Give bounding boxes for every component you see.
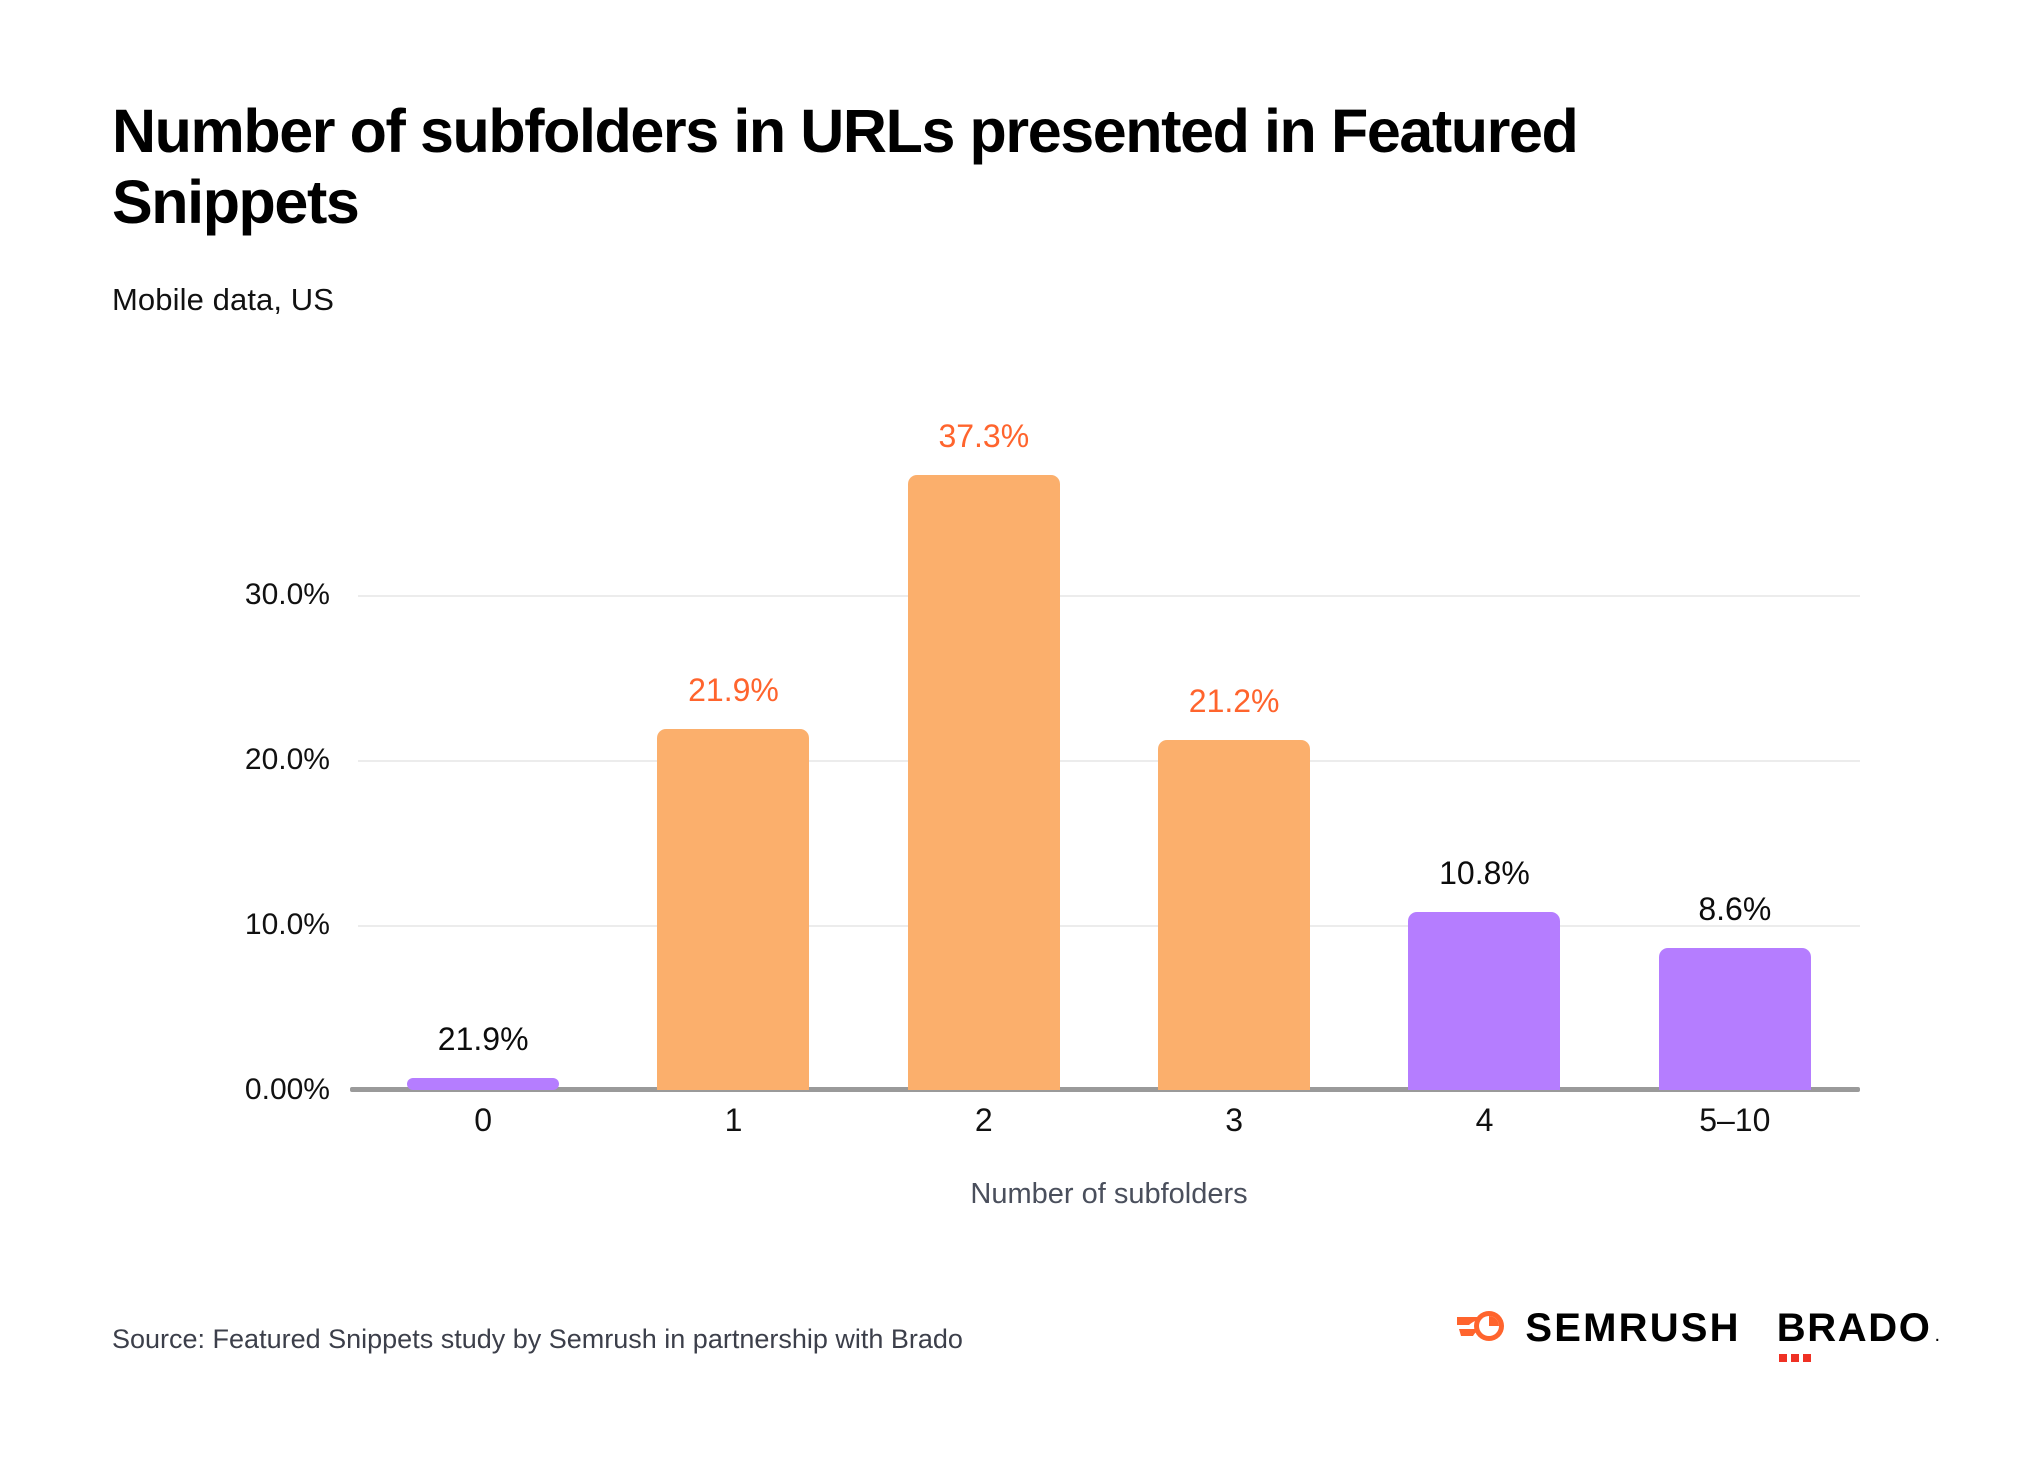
page-title: Number of subfolders in URLs presented i… (112, 96, 1732, 238)
brado-wordmark: BRADO (1777, 1306, 1932, 1351)
bar-value-label-3: 21.2% (1189, 683, 1280, 720)
y-tick-0: 0.00% (245, 1073, 330, 1107)
logo-group: SEMRUSH BRADO . (1455, 1304, 1940, 1353)
bar-group: 21.9% 21.9% 37.3% 21.2% 10.8% 8.6% (358, 430, 1860, 1090)
bar-value-label-4: 10.8% (1439, 855, 1530, 892)
x-axis-title: Number of subfolders (358, 1178, 1860, 1211)
bar-slot-4[interactable]: 10.8% (1359, 430, 1609, 1090)
bar-1[interactable] (657, 729, 809, 1090)
x-tick-1: 1 (608, 1102, 858, 1139)
x-axis-labels: 0 1 2 3 4 5–10 (358, 1102, 1860, 1139)
bar-slot-3[interactable]: 21.2% (1109, 430, 1359, 1090)
x-tick-2: 2 (859, 1102, 1109, 1139)
brado-trademark-dot: . (1934, 1324, 1940, 1351)
bar-2[interactable] (908, 475, 1060, 1090)
semrush-logo: SEMRUSH (1455, 1304, 1740, 1353)
bar-slot-0[interactable]: 21.9% (358, 430, 608, 1090)
plot-area: 21.9% 21.9% 37.3% 21.2% 10.8% 8.6% (358, 430, 1860, 1090)
bar-0[interactable] (407, 1078, 559, 1090)
y-axis-labels: 30.0% 20.0% 10.0% 0.00% (150, 430, 330, 1090)
semrush-wordmark: SEMRUSH (1525, 1306, 1740, 1351)
x-tick-4: 4 (1359, 1102, 1609, 1139)
x-tick-5: 5–10 (1610, 1102, 1860, 1139)
semrush-comet-icon (1455, 1304, 1509, 1353)
bar-value-label-0: 21.9% (438, 1021, 529, 1058)
footer-block: Source: Featured Snippets study by Semru… (0, 1288, 2020, 1458)
header-block: Number of subfolders in URLs presented i… (112, 96, 1812, 318)
bar-5[interactable] (1659, 948, 1811, 1090)
bar-value-label-5: 8.6% (1698, 891, 1771, 928)
y-tick-30: 30.0% (245, 578, 330, 612)
y-tick-10: 10.0% (245, 908, 330, 942)
bar-4[interactable] (1408, 912, 1560, 1090)
bar-slot-1[interactable]: 21.9% (608, 430, 858, 1090)
bar-chart: 30.0% 20.0% 10.0% 0.00% 21.9% 21.9% 37.3… (0, 430, 2020, 1230)
bar-slot-2[interactable]: 37.3% (859, 430, 1109, 1090)
page-subtitle: Mobile data, US (112, 282, 1812, 318)
brado-logo: BRADO . (1777, 1306, 1940, 1351)
x-tick-3: 3 (1109, 1102, 1359, 1139)
y-tick-20: 20.0% (245, 743, 330, 777)
source-note: Source: Featured Snippets study by Semru… (112, 1324, 963, 1355)
brado-dots-icon (1779, 1354, 1811, 1362)
bar-value-label-2: 37.3% (938, 418, 1029, 455)
bar-value-label-1: 21.9% (688, 672, 779, 709)
bar-slot-5[interactable]: 8.6% (1610, 430, 1860, 1090)
bar-3[interactable] (1158, 740, 1310, 1090)
x-tick-0: 0 (358, 1102, 608, 1139)
